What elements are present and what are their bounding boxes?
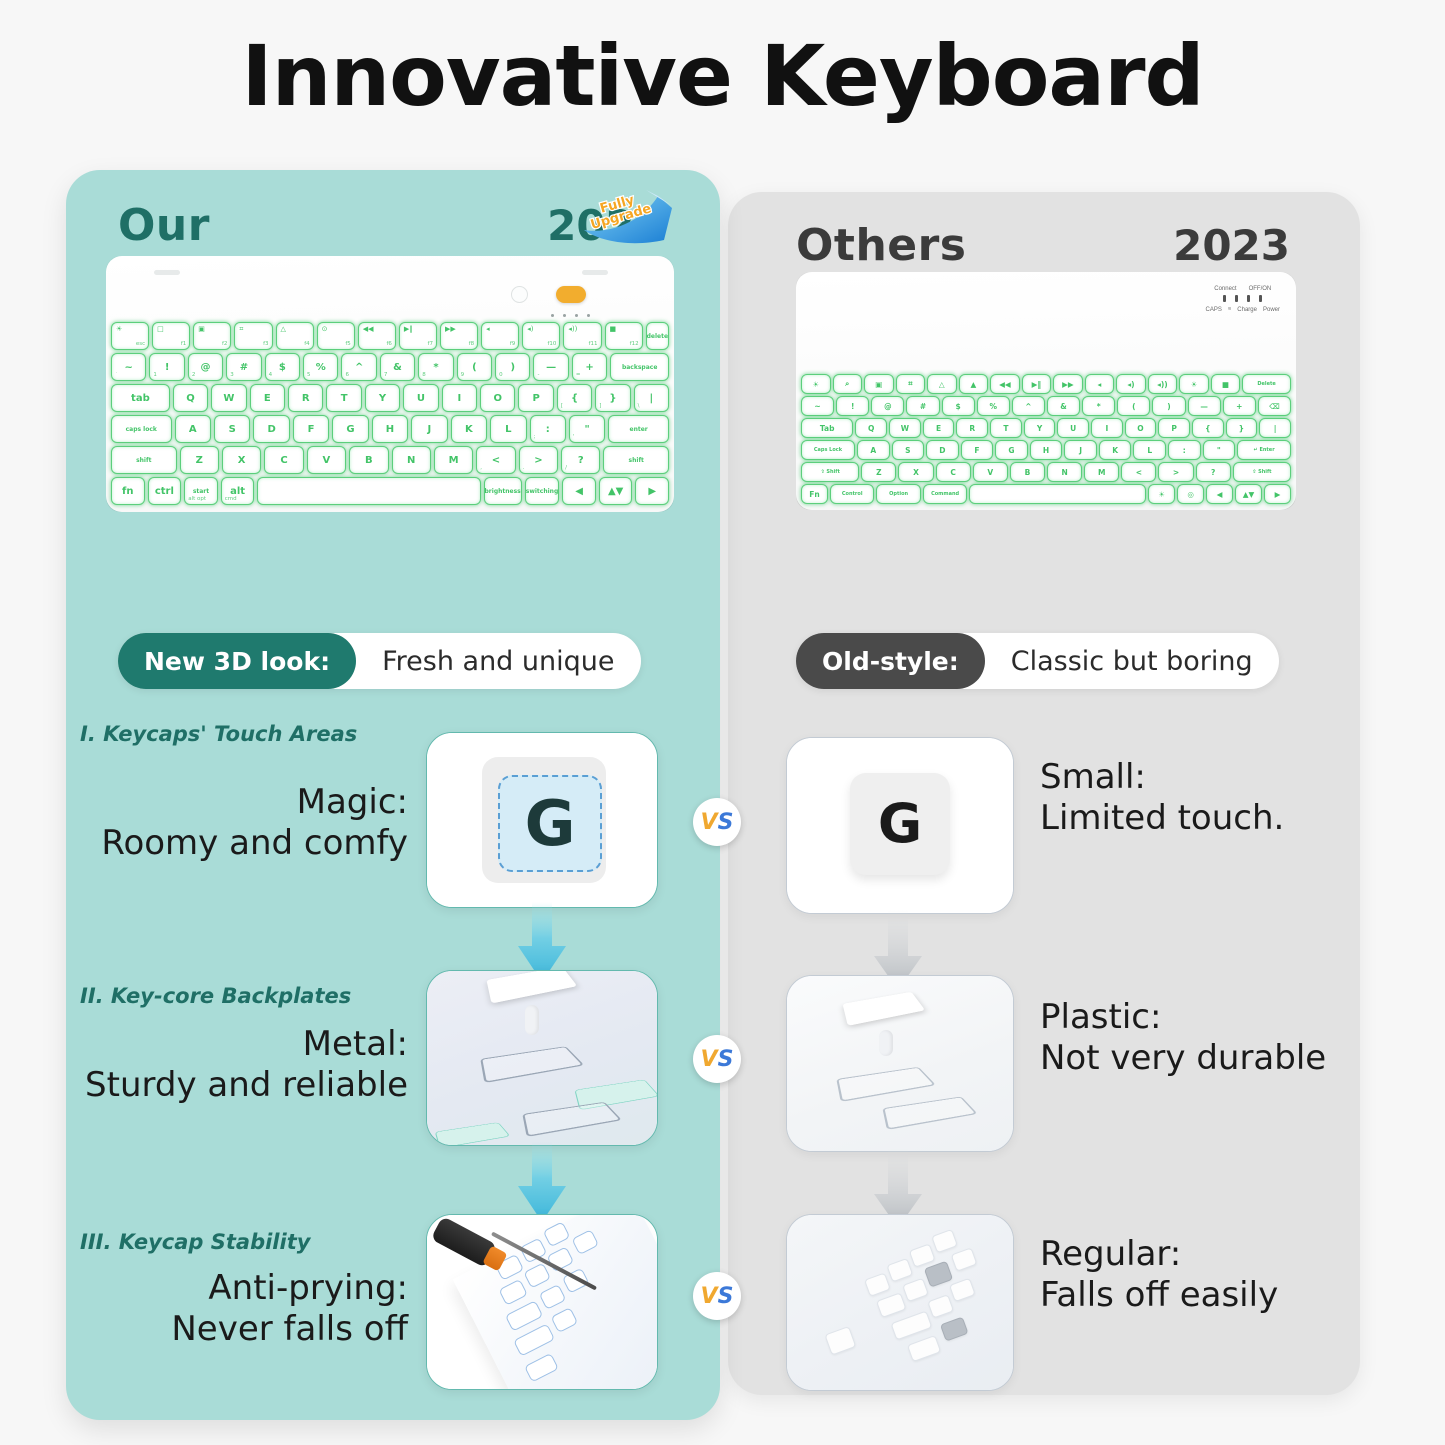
- key-sub-label: f7: [428, 341, 433, 347]
- key-label: W: [223, 393, 234, 404]
- keyboard-key[interactable]: O: [1125, 418, 1157, 438]
- key-label: Z: [876, 468, 881, 477]
- key-sub-label: ]: [599, 403, 601, 409]
- keyboard-key[interactable]: E: [923, 418, 955, 438]
- keyboard-key[interactable]: O: [480, 384, 515, 412]
- key-label: ◂)): [1157, 380, 1168, 389]
- keyboard-nub-left: [154, 270, 180, 275]
- keyboard-key[interactable]: ctrl: [148, 477, 182, 505]
- keyboard-key[interactable]: X: [222, 446, 261, 474]
- key-label: K: [465, 424, 473, 435]
- key-sub-label: ;: [534, 434, 536, 440]
- key-label: L: [505, 424, 511, 435]
- key-top-glyph: ▶‖: [404, 325, 413, 333]
- keyboard-key[interactable]: ◎: [1177, 484, 1204, 504]
- keyboard-key[interactable]: L: [1133, 440, 1166, 460]
- keyboard-key[interactable]: ■: [1211, 374, 1241, 394]
- keyboard-key[interactable]: S: [214, 415, 250, 443]
- keyboard-key[interactable]: Caps Lock: [801, 440, 855, 460]
- key-label: &: [1060, 402, 1067, 411]
- keyboard-key[interactable]: @2: [188, 353, 223, 381]
- keyboard-key[interactable]: ▲▼: [599, 477, 633, 505]
- led-label-charge: Charge: [1237, 307, 1257, 313]
- keyboard-key[interactable]: brightness: [484, 477, 522, 505]
- keyboard-key[interactable]: ☀: [801, 374, 831, 394]
- key-label: #: [240, 362, 248, 373]
- keyboard-key[interactable]: ▲: [959, 374, 989, 394]
- key-label: —: [1200, 402, 1208, 411]
- keyboard-key[interactable]: W: [211, 384, 246, 412]
- keyboard-key[interactable]: [969, 484, 1146, 504]
- keyboard-key[interactable]: □f1: [152, 322, 190, 350]
- keyboard-key[interactable]: %: [977, 396, 1010, 416]
- key-label: !: [851, 402, 854, 411]
- keyboard-key[interactable]: R: [956, 418, 988, 438]
- keyboard-key[interactable]: #: [906, 396, 939, 416]
- key-top-glyph: ▣: [198, 325, 205, 333]
- key-label: }: [609, 393, 616, 404]
- keyboard-key[interactable]: T: [326, 384, 361, 412]
- key-label: ↵ Enter: [1254, 447, 1275, 453]
- keyboard-key[interactable]: <,: [476, 446, 515, 474]
- keyboard-key[interactable]: M: [1084, 462, 1119, 482]
- keyboard-key[interactable]: @: [871, 396, 904, 416]
- key-sub-label: f4: [304, 341, 309, 347]
- keyboard-key[interactable]: Z: [861, 462, 896, 482]
- keyboard-key[interactable]: }]: [595, 384, 630, 412]
- keyboard-key[interactable]: Option: [876, 484, 920, 504]
- key-label: ◀: [575, 486, 583, 497]
- key-label: F: [308, 424, 315, 435]
- key-label: ": [1217, 446, 1221, 455]
- keyboard-key[interactable]: shift: [603, 446, 669, 474]
- key-label: Y: [1037, 424, 1042, 433]
- key-label: ◀: [1217, 490, 1223, 499]
- key-label: V: [323, 455, 331, 466]
- key-label: ▲: [970, 380, 976, 389]
- key-label: U: [417, 393, 425, 404]
- plastic-stem: [879, 1030, 893, 1056]
- keyboard-key[interactable]: C: [936, 462, 971, 482]
- keyboard-key[interactable]: Fn: [801, 484, 828, 504]
- key-top-glyph: ■: [610, 325, 617, 333]
- ours-feature-2-headline: Metal:: [66, 1024, 408, 1065]
- keyboard-key[interactable]: (9: [457, 353, 492, 381]
- keyboard-key[interactable]: Y: [365, 384, 400, 412]
- keyboard-key[interactable]: V: [973, 462, 1008, 482]
- keyboard-key[interactable]: C: [264, 446, 303, 474]
- key-label: F: [974, 446, 979, 455]
- keyboard-key[interactable]: K: [451, 415, 487, 443]
- key-label: Delete: [1257, 381, 1275, 387]
- keyboard-key[interactable]: ▶: [635, 477, 669, 505]
- keyboard-key[interactable]: U: [1057, 418, 1089, 438]
- keyboard-key[interactable]: X: [898, 462, 933, 482]
- keyboard-key[interactable]: Tab: [801, 418, 853, 438]
- keyboard-key[interactable]: B: [349, 446, 388, 474]
- keyboard-key[interactable]: (: [1117, 396, 1150, 416]
- ours-thumb-backplate: [426, 970, 658, 1146]
- key-sub-label: 9: [461, 372, 465, 378]
- keyboard-key[interactable]: delete: [646, 322, 669, 350]
- keyboard-key[interactable]: ▶: [1264, 484, 1291, 504]
- keyboard-key[interactable]: J: [1064, 440, 1097, 460]
- keyboard-key[interactable]: R: [288, 384, 323, 412]
- key-label: enter: [630, 426, 648, 433]
- keyboard-key[interactable]: ◂): [1116, 374, 1146, 394]
- wifi-icon: ᵚ: [1228, 307, 1231, 313]
- key-label: ⌗: [908, 379, 912, 389]
- keyboard-key[interactable]: Control: [830, 484, 874, 504]
- keyboard-key[interactable]: Z: [180, 446, 219, 474]
- others-thumb-stability: [786, 1214, 1014, 1391]
- power-toggle-indicator[interactable]: [556, 286, 586, 303]
- key-label: N: [1061, 468, 1067, 477]
- others-feature-1-headline: Small:: [1040, 757, 1320, 798]
- keyboard-key[interactable]: ◂: [1085, 374, 1115, 394]
- vs-badge-v: V: [701, 1047, 718, 1072]
- keyboard-key[interactable]: ◂)): [1148, 374, 1178, 394]
- keyboard-key[interactable]: ▲▼: [1235, 484, 1262, 504]
- keyboard-key[interactable]: Delete: [1242, 374, 1291, 394]
- keyboard-key[interactable]: >.: [519, 446, 558, 474]
- keyboard-key[interactable]: ⇧ Shift: [1233, 462, 1291, 482]
- key-label: %: [990, 402, 998, 411]
- led-label-connect: Connect: [1214, 286, 1236, 292]
- key-label: P: [532, 393, 539, 404]
- keyboard-key[interactable]: U: [403, 384, 438, 412]
- key-label: K: [1112, 446, 1118, 455]
- keyboard-key[interactable]: ☀: [1148, 484, 1175, 504]
- keyboard-key[interactable]: K: [1099, 440, 1132, 460]
- keyboard-key[interactable]: ): [1152, 396, 1185, 416]
- ours-keyboard: ☀esc□f1▣f2⌗f3△f4⊙f5◀◀f6▶‖f7▶▶f8◂f9◂)f10◂…: [106, 256, 674, 512]
- key-label: @: [201, 362, 211, 373]
- keyboard-key[interactable]: G: [332, 415, 368, 443]
- keyboard-key[interactable]: :: [1168, 440, 1201, 460]
- key-label: alt: [230, 486, 245, 497]
- keyboard-key[interactable]: ◀: [1206, 484, 1233, 504]
- key-label: T: [1003, 424, 1008, 433]
- key-label: C: [280, 455, 287, 466]
- keyboard-key[interactable]: |: [1259, 418, 1291, 438]
- key-label: O: [1137, 424, 1143, 433]
- keyboard-key[interactable]: enter: [608, 415, 669, 443]
- key-label: <: [1136, 468, 1142, 477]
- key-label: Option: [889, 491, 908, 497]
- keyboard-key[interactable]: startalt opt: [184, 477, 218, 505]
- ours-style-tag: New 3D look:: [118, 633, 356, 689]
- keyboard-key[interactable]: ☀: [1179, 374, 1209, 394]
- keyboard-key[interactable]: shift: [111, 446, 177, 474]
- metal-keycap-top: [486, 970, 577, 1004]
- keyboard-key[interactable]: ?/: [561, 446, 600, 474]
- keyboard-key[interactable]: ▶▶f8: [440, 322, 478, 350]
- key-label: switching: [526, 488, 559, 495]
- keyboard-key[interactable]: ▣f2: [193, 322, 231, 350]
- others-brand-label: Others: [796, 220, 967, 271]
- ours-feature-1-headline: Magic:: [66, 782, 408, 823]
- keyboard-key[interactable]: F: [293, 415, 329, 443]
- keyboard-key[interactable]: ◀◀: [990, 374, 1020, 394]
- keyboard-key[interactable]: ▶▶: [1053, 374, 1083, 394]
- key-label: A: [870, 446, 876, 455]
- keyboard-key[interactable]: ~`: [111, 353, 146, 381]
- vs-badge-s: S: [718, 1284, 734, 1309]
- key-label: {: [1205, 424, 1210, 433]
- key-sub-label: esc: [136, 341, 145, 347]
- key-label: A: [189, 424, 197, 435]
- keyboard-key[interactable]: *8: [418, 353, 453, 381]
- status-indicator-circle: [511, 286, 528, 303]
- key-top-glyph: ◂)): [568, 325, 577, 333]
- keyboard-key[interactable]: &: [1047, 396, 1080, 416]
- keyboard-key[interactable]: P: [1158, 418, 1190, 438]
- key-label: J: [1079, 446, 1082, 455]
- key-sub-label: f2: [222, 341, 227, 347]
- keyboard-key[interactable]: $4: [265, 353, 300, 381]
- keyboard-key[interactable]: I: [1091, 418, 1123, 438]
- key-sub-label: =: [576, 372, 581, 378]
- others-feature-3-subline: Falls off easily: [1040, 1275, 1340, 1316]
- key-label: shift: [629, 457, 644, 464]
- key-label: |: [1274, 424, 1277, 433]
- keyboard-key[interactable]: <: [1121, 462, 1156, 482]
- small-keycap-scene: G: [787, 738, 1013, 913]
- keyboard-key[interactable]: +: [1223, 396, 1256, 416]
- key-label: ~: [125, 362, 133, 373]
- key-sub-label: f9: [510, 341, 515, 347]
- keyboard-row: fnctrlstartalt optaltcmdbrightnessswitch…: [111, 477, 669, 505]
- key-label: caps lock: [126, 426, 157, 433]
- keyboard-key[interactable]: F: [961, 440, 994, 460]
- key-label: ▣: [875, 380, 882, 389]
- keyboard-key[interactable]: △: [927, 374, 957, 394]
- keyboard-key[interactable]: —-: [533, 353, 568, 381]
- keyboard-key[interactable]: ↵ Enter: [1237, 440, 1291, 460]
- others-led-labels-bottom: CAPS ᵚ Charge Power: [1206, 307, 1280, 313]
- ours-section-label-1: I. Keycaps' Touch Areas: [80, 722, 357, 746]
- keyboard-row: tabQWERTYUIOP{[}]|\: [111, 384, 669, 412]
- keyboard-key[interactable]: !1: [149, 353, 184, 381]
- keyboard-key[interactable]: ⌕: [833, 374, 863, 394]
- keyboard-key[interactable]: caps lock: [111, 415, 172, 443]
- keyboard-key[interactable]: H: [1030, 440, 1063, 460]
- keyboard-key[interactable]: W: [889, 418, 921, 438]
- keyboard-key[interactable]: Command: [923, 484, 967, 504]
- keyboard-key[interactable]: {: [1192, 418, 1224, 438]
- key-label: M: [1098, 468, 1105, 477]
- key-label: start: [193, 488, 209, 495]
- keyboard-key[interactable]: —: [1188, 396, 1221, 416]
- others-feature-text-1: Small: Limited touch.: [1040, 757, 1320, 840]
- keyboard-key[interactable]: ◂)f10: [522, 322, 560, 350]
- key-label: Command: [931, 491, 959, 497]
- key-label: {: [571, 393, 578, 404]
- key-label: ^: [1025, 402, 1031, 411]
- keyboard-key[interactable]: [257, 477, 480, 505]
- key-label: ⌫: [1269, 402, 1280, 411]
- keyboard-key[interactable]: |\: [634, 384, 669, 412]
- keyboard-key[interactable]: D: [253, 415, 289, 443]
- key-label: L: [1147, 446, 1152, 455]
- key-sub-label: f6: [386, 341, 391, 347]
- ours-feature-3-subline: Never falls off: [66, 1309, 408, 1350]
- others-led-indicators: Connect OFF/ON CAPS ᵚ Charge Power: [1206, 286, 1280, 313]
- keyboard-key[interactable]: H: [372, 415, 408, 443]
- ours-feature-1-subline: Roomy and comfy: [66, 823, 408, 864]
- key-sub-label: .: [523, 465, 525, 471]
- keyboard-key[interactable]: backspace: [610, 353, 669, 381]
- keyboard-key[interactable]: Q: [173, 384, 208, 412]
- key-label: #: [920, 402, 926, 411]
- key-label: ▲▼: [1243, 490, 1255, 499]
- keyboard-key[interactable]: ~: [801, 396, 834, 416]
- others-feature-2-subline: Not very durable: [1040, 1038, 1340, 1079]
- keyboard-key[interactable]: G: [995, 440, 1028, 460]
- key-sub-label: 5: [307, 372, 311, 378]
- keyboard-key[interactable]: :;: [530, 415, 566, 443]
- infographic-page: Innovative Keyboard Others 2023 Connect …: [0, 0, 1445, 1445]
- key-label: ▶▶: [1062, 380, 1074, 389]
- keyboard-key[interactable]: ⌗f3: [234, 322, 272, 350]
- key-label: (: [472, 362, 477, 373]
- keyboard-key[interactable]: M: [434, 446, 473, 474]
- key-label: B: [365, 455, 373, 466]
- key-sub-label: 4: [269, 372, 273, 378]
- ours-thumb-touch-area: G: [426, 732, 658, 908]
- keyboard-key[interactable]: ^6: [341, 353, 376, 381]
- key-label: tab: [131, 393, 150, 404]
- keyboard-key[interactable]: ": [1203, 440, 1236, 460]
- key-label: ◀◀: [999, 380, 1011, 389]
- ours-feature-3-headline: Anti-prying:: [66, 1268, 408, 1309]
- keyboard-key[interactable]: *: [1082, 396, 1115, 416]
- keyboard-key[interactable]: $: [942, 396, 975, 416]
- vs-badge-v: V: [701, 1284, 718, 1309]
- keyboard-key[interactable]: ◀: [562, 477, 596, 505]
- key-label: P: [1171, 424, 1177, 433]
- keyboard-key[interactable]: V: [307, 446, 346, 474]
- keyboard-key[interactable]: ⊙f5: [317, 322, 355, 350]
- keyboard-key[interactable]: }: [1226, 418, 1258, 438]
- key-sub-label: -: [537, 372, 539, 378]
- keyboard-key[interactable]: ^: [1012, 396, 1045, 416]
- keyboard-key[interactable]: Y: [1024, 418, 1056, 438]
- key-label: *: [1097, 402, 1101, 411]
- keyboard-key[interactable]: ■f12: [605, 322, 643, 350]
- vs-badge-s: S: [718, 810, 734, 835]
- key-label: <: [492, 455, 500, 466]
- ours-key-grid: ☀esc□f1▣f2⌗f3△f4⊙f5◀◀f6▶‖f7▶▶f8◂f9◂)f10◂…: [106, 322, 674, 508]
- key-sub-label: 3: [230, 372, 234, 378]
- teal-keycap-2: [435, 1122, 511, 1146]
- key-label: I: [457, 393, 461, 404]
- vs-badge-3: VS: [693, 1272, 741, 1320]
- others-thumb-touch-area: G: [786, 737, 1014, 914]
- keyboard-key[interactable]: N: [392, 446, 431, 474]
- keyboard-key[interactable]: tab: [111, 384, 170, 412]
- keyboard-key[interactable]: △f4: [276, 322, 314, 350]
- key-sub-label: 7: [384, 372, 388, 378]
- keyboard-key[interactable]: I: [442, 384, 477, 412]
- keyboard-key[interactable]: ⌫: [1258, 396, 1291, 416]
- key-label: X: [913, 468, 919, 477]
- keyboard-key[interactable]: A: [857, 440, 890, 460]
- small-g-keycap: G: [850, 773, 949, 875]
- keyboard-key[interactable]: D: [926, 440, 959, 460]
- keyboard-key[interactable]: !: [836, 396, 869, 416]
- keyboard-key[interactable]: ◂))f11: [563, 322, 601, 350]
- keyboard-key[interactable]: )0: [495, 353, 530, 381]
- keyboard-key[interactable]: fn: [111, 477, 145, 505]
- keycap-falling-scene: [787, 1215, 1013, 1390]
- others-led-dots: [1206, 295, 1280, 302]
- keyboard-key[interactable]: %5: [303, 353, 338, 381]
- keyboard-key[interactable]: ▶‖: [1022, 374, 1052, 394]
- keyboard-nub-right: [582, 270, 608, 275]
- keyboard-key[interactable]: >: [1158, 462, 1193, 482]
- keyboard-key[interactable]: T: [990, 418, 1022, 438]
- keyboard-key[interactable]: {[: [557, 384, 592, 412]
- key-label: N: [407, 455, 415, 466]
- key-label: I: [1105, 424, 1108, 433]
- keyboard-key[interactable]: "': [569, 415, 605, 443]
- keyboard-key[interactable]: ▶‖f7: [399, 322, 437, 350]
- keyboard-key[interactable]: ?: [1196, 462, 1231, 482]
- ours-section-label-2: II. Key-core Backplates: [80, 984, 351, 1008]
- small-keycap-letter: G: [878, 792, 922, 855]
- keyboard-key[interactable]: Q: [855, 418, 887, 438]
- others-feature-1-subline: Limited touch.: [1040, 798, 1320, 839]
- ours-keyboard-image: ☀esc□f1▣f2⌗f3△f4⊙f5◀◀f6▶‖f7▶▶f8◂f9◂)f10◂…: [106, 256, 674, 512]
- key-label: ▶: [648, 486, 656, 497]
- prying-scene: [427, 1215, 657, 1389]
- keyboard-row: ☀esc□f1▣f2⌗f3△f4⊙f5◀◀f6▶‖f7▶▶f8◂f9◂)f10◂…: [111, 322, 669, 350]
- keyboard-key[interactable]: switching: [525, 477, 560, 505]
- keyboard-key[interactable]: A: [175, 415, 211, 443]
- keyboard-key[interactable]: B: [1010, 462, 1045, 482]
- key-sub-label: /: [565, 465, 567, 471]
- keyboard-key[interactable]: L: [490, 415, 526, 443]
- keyboard-key[interactable]: J: [411, 415, 447, 443]
- keyboard-key[interactable]: ⌗: [896, 374, 926, 394]
- keyboard-key[interactable]: ▣: [864, 374, 894, 394]
- keyboard-key[interactable]: N: [1047, 462, 1082, 482]
- indicator-dots: [551, 314, 590, 317]
- keyboard-key[interactable]: +=: [572, 353, 607, 381]
- key-sub-label: ,: [480, 465, 482, 471]
- keyboard-key[interactable]: P: [518, 384, 553, 412]
- key-label: ☀: [812, 380, 819, 389]
- key-label: brightness: [485, 488, 521, 495]
- keyboard-key[interactable]: &7: [380, 353, 415, 381]
- key-sub-label: f3: [263, 341, 268, 347]
- keyboard-key[interactable]: ◀◀f6: [358, 322, 396, 350]
- key-label: ▶: [1275, 490, 1281, 499]
- keyboard-key[interactable]: E: [250, 384, 285, 412]
- key-label: !: [165, 362, 170, 373]
- keyboard-key[interactable]: S: [892, 440, 925, 460]
- keyboard-row: ~!@#$%^&*()—+⌫: [801, 396, 1291, 416]
- key-label: backspace: [622, 364, 657, 371]
- keyboard-key[interactable]: ☀esc: [111, 322, 149, 350]
- keyboard-key[interactable]: altcmd: [221, 477, 255, 505]
- keyboard-key[interactable]: ⇧ Shift: [801, 462, 859, 482]
- keyboard-key[interactable]: ◂f9: [481, 322, 519, 350]
- keyboard-key[interactable]: #3: [226, 353, 261, 381]
- key-top-glyph: ◀◀: [363, 325, 374, 333]
